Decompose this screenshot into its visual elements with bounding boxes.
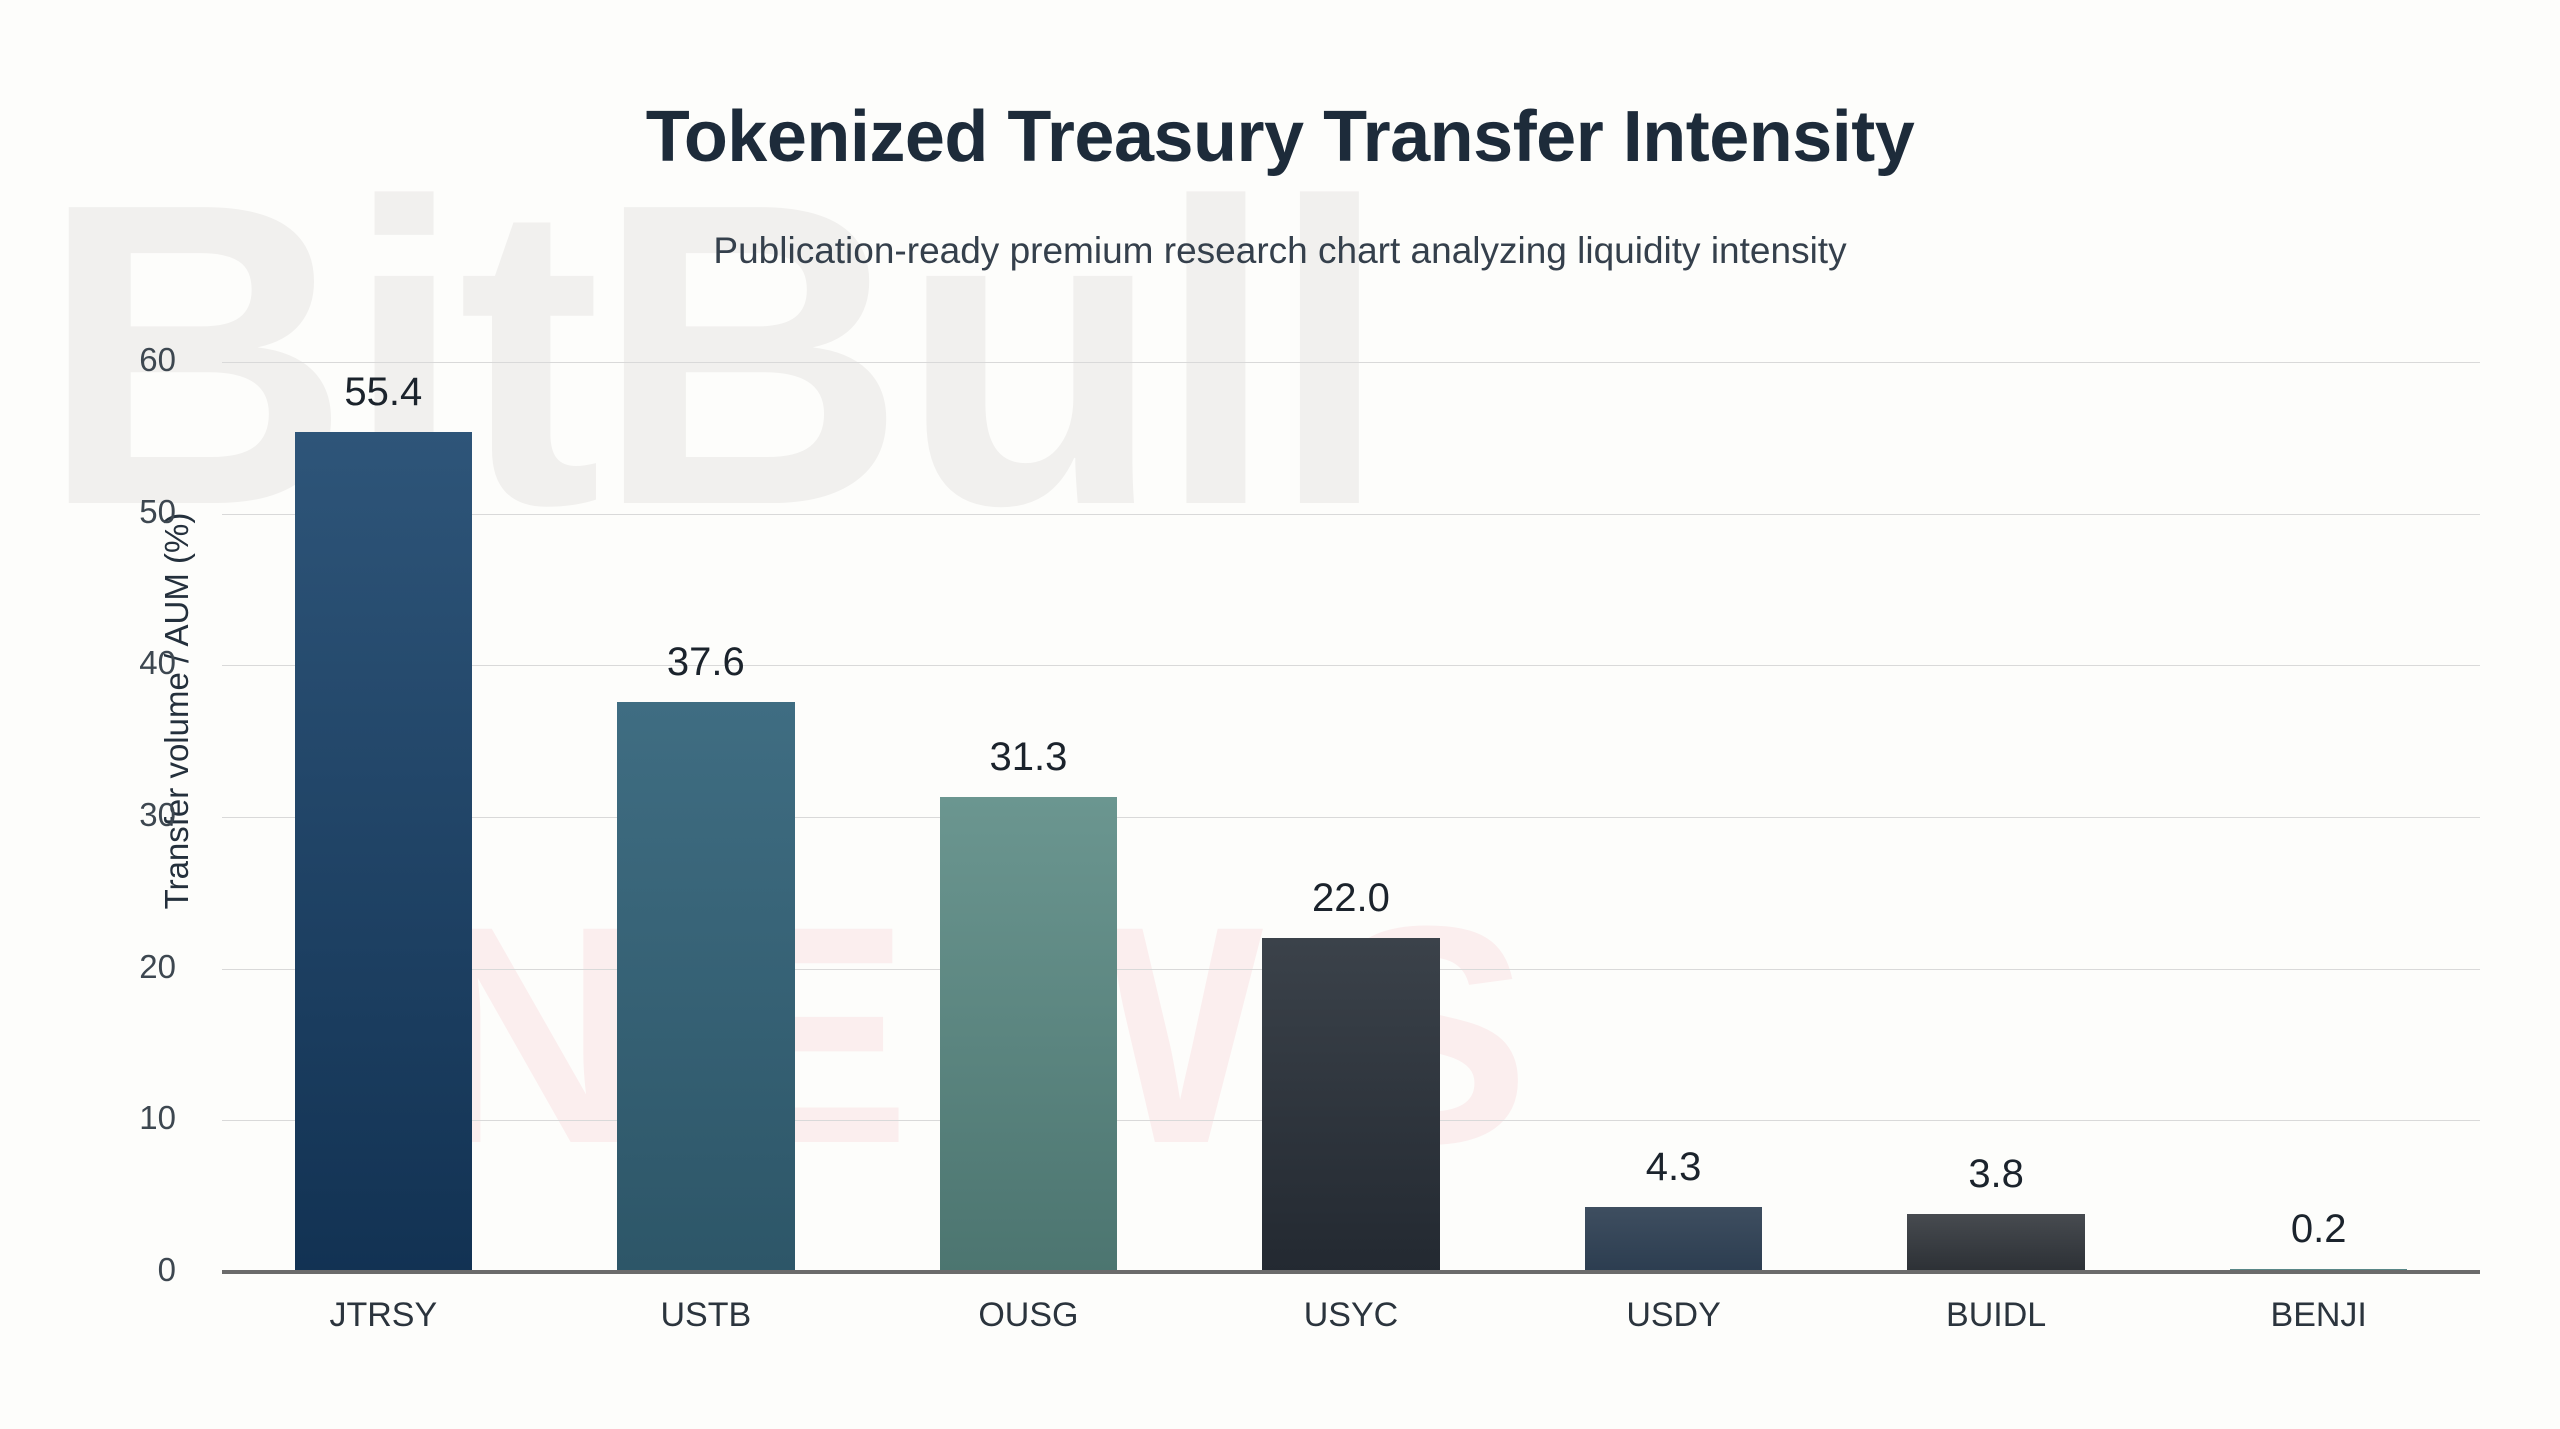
x-axis-line	[222, 1270, 2480, 1274]
y-axis-tick-label: 0	[56, 1251, 176, 1289]
gridline	[222, 362, 2480, 363]
y-axis-title: Transfer volume / AUM (%)	[158, 501, 196, 921]
bar-value-label: 37.6	[545, 640, 868, 685]
bar-ousg[interactable]	[940, 797, 1117, 1272]
bar-ustb[interactable]	[617, 702, 794, 1272]
x-axis-tick-label: USTB	[545, 1296, 868, 1335]
x-axis-tick-label: USDY	[1512, 1296, 1835, 1335]
chart-page: BitBull NEWS Tokenized Treasury Transfer…	[0, 0, 2560, 1429]
bar-usyc[interactable]	[1262, 938, 1439, 1272]
gridline	[222, 817, 2480, 818]
bar-value-label: 55.4	[222, 370, 545, 415]
bar-value-label: 4.3	[1512, 1145, 1835, 1190]
y-axis-tick-label: 60	[56, 341, 176, 379]
x-axis-tick-label: JTRSY	[222, 1296, 545, 1335]
bar-buidl[interactable]	[1907, 1214, 2084, 1272]
bar-value-label: 31.3	[867, 735, 1190, 780]
y-axis-tick-label: 50	[56, 493, 176, 531]
page-subtitle: Publication-ready premium research chart…	[0, 230, 2560, 272]
y-axis-tick-label: 40	[56, 644, 176, 682]
bar-usdy[interactable]	[1585, 1207, 1762, 1272]
x-axis-tick-label: BENJI	[2157, 1296, 2480, 1335]
bar-jtrsy[interactable]	[295, 432, 472, 1272]
x-axis-tick-label: BUIDL	[1835, 1296, 2158, 1335]
gridline	[222, 514, 2480, 515]
y-axis-tick-label: 30	[56, 796, 176, 834]
y-axis-tick-label: 10	[56, 1099, 176, 1137]
x-axis-tick-label: OUSG	[867, 1296, 1190, 1335]
page-title: Tokenized Treasury Transfer Intensity	[0, 96, 2560, 178]
bar-value-label: 0.2	[2157, 1207, 2480, 1252]
y-axis-tick-label: 20	[56, 948, 176, 986]
plot-area: 55.437.631.322.04.33.80.2	[222, 362, 2480, 1272]
bar-value-label: 22.0	[1190, 876, 1513, 921]
bar-value-label: 3.8	[1835, 1152, 2158, 1197]
x-axis-tick-label: USYC	[1190, 1296, 1513, 1335]
